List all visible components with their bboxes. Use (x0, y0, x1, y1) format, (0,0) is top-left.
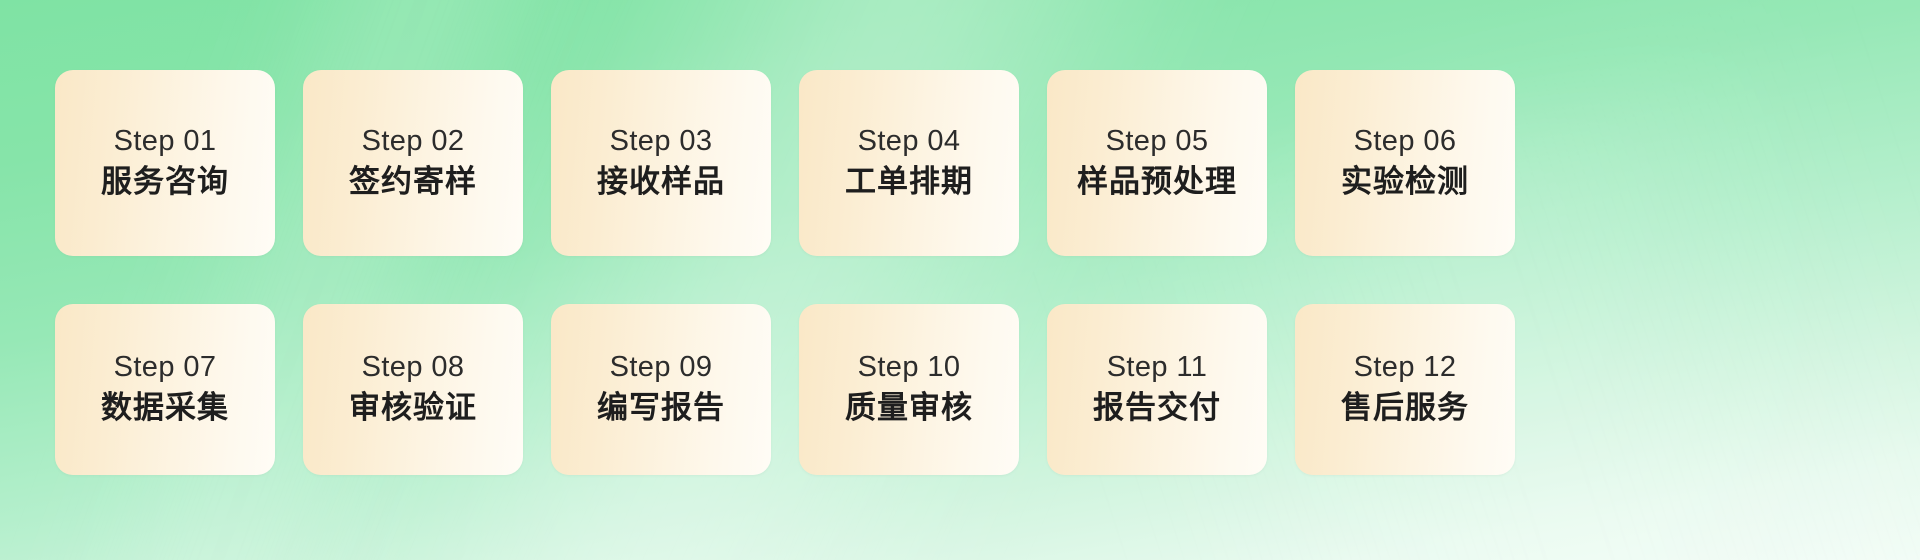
step-card-08[interactable]: Step 08 审核验证 (303, 304, 523, 475)
step-number-03: Step 03 (610, 127, 713, 156)
step-number-12: Step 12 (1354, 353, 1457, 382)
process-flow-banner: Step 01 服务咨询 Step 02 签约寄样 Step 03 接收样品 S… (0, 0, 1920, 560)
step-card-06[interactable]: Step 06 实验检测 (1295, 70, 1515, 256)
step-name-11: 报告交付 (1093, 391, 1221, 425)
step-card-11[interactable]: Step 11 报告交付 (1047, 304, 1267, 475)
step-number-06: Step 06 (1354, 127, 1457, 156)
step-number-01: Step 01 (114, 127, 217, 156)
step-name-01: 服务咨询 (101, 165, 229, 199)
step-name-07: 数据采集 (101, 391, 229, 425)
step-number-10: Step 10 (858, 353, 961, 382)
step-card-12[interactable]: Step 12 售后服务 (1295, 304, 1515, 475)
step-card-10[interactable]: Step 10 质量审核 (799, 304, 1019, 475)
step-name-08: 审核验证 (349, 391, 477, 425)
step-card-05[interactable]: Step 05 样品预处理 (1047, 70, 1267, 256)
step-number-07: Step 07 (114, 353, 217, 382)
step-name-06: 实验检测 (1341, 165, 1469, 199)
step-number-08: Step 08 (362, 353, 465, 382)
step-name-02: 签约寄样 (349, 165, 477, 199)
step-card-09[interactable]: Step 09 编写报告 (551, 304, 771, 475)
step-card-04[interactable]: Step 04 工单排期 (799, 70, 1019, 256)
step-card-07[interactable]: Step 07 数据采集 (55, 304, 275, 475)
step-number-09: Step 09 (610, 353, 713, 382)
step-card-02[interactable]: Step 02 签约寄样 (303, 70, 523, 256)
step-number-11: Step 11 (1107, 353, 1208, 382)
step-number-04: Step 04 (858, 127, 961, 156)
step-card-03[interactable]: Step 03 接收样品 (551, 70, 771, 256)
step-number-05: Step 05 (1106, 127, 1209, 156)
step-name-05: 样品预处理 (1077, 165, 1237, 199)
step-card-grid: Step 01 服务咨询 Step 02 签约寄样 Step 03 接收样品 S… (55, 70, 1858, 475)
step-name-10: 质量审核 (845, 391, 973, 425)
step-number-02: Step 02 (362, 127, 465, 156)
step-name-03: 接收样品 (597, 165, 725, 199)
step-name-09: 编写报告 (597, 391, 725, 425)
step-name-12: 售后服务 (1341, 391, 1469, 425)
step-card-01[interactable]: Step 01 服务咨询 (55, 70, 275, 256)
step-name-04: 工单排期 (845, 165, 973, 199)
